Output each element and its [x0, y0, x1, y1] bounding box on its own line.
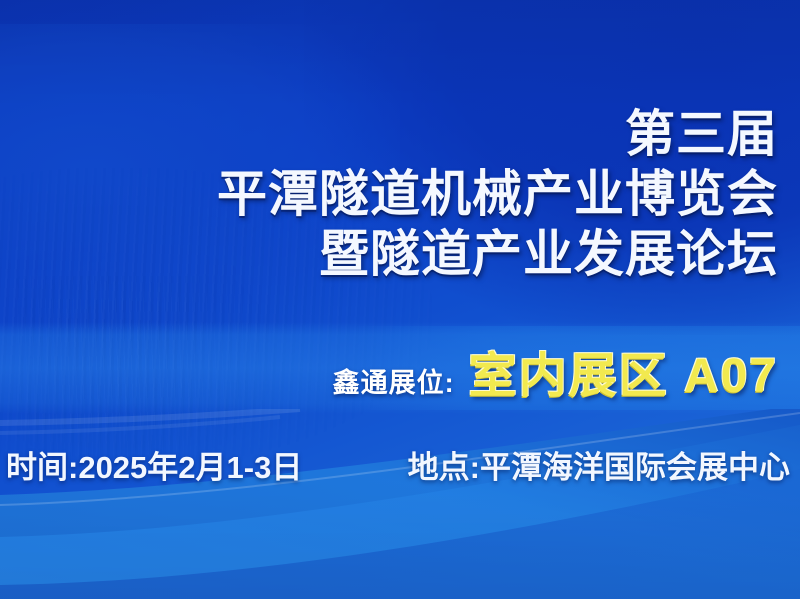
exhibition-banner: 第三届 平潭隧道机械产业博览会 暨隧道产业发展论坛 鑫通展位: 室内展区 A07… [0, 0, 800, 599]
booth-number: 室内展区 A07 [469, 336, 778, 406]
event-location: 地点:平潭海洋国际会展中心 [408, 442, 790, 487]
title-block: 第三届 平潭隧道机械产业博览会 暨隧道产业发展论坛 [0, 104, 778, 284]
booth-label: 鑫通展位: [333, 361, 455, 400]
title-line-3: 暨隧道产业发展论坛 [0, 224, 778, 284]
background-wave-ribbons [0, 409, 800, 599]
booth-row: 鑫通展位: 室内展区 A07 [0, 336, 778, 406]
title-line-2: 平潭隧道机械产业博览会 [0, 164, 778, 224]
wave-svg [0, 409, 800, 599]
meta-row: 时间:2025年2月1-3日 地点:平潭海洋国际会展中心 [6, 442, 790, 487]
title-line-1: 第三届 [0, 104, 778, 164]
event-date: 时间:2025年2月1-3日 [6, 442, 302, 487]
